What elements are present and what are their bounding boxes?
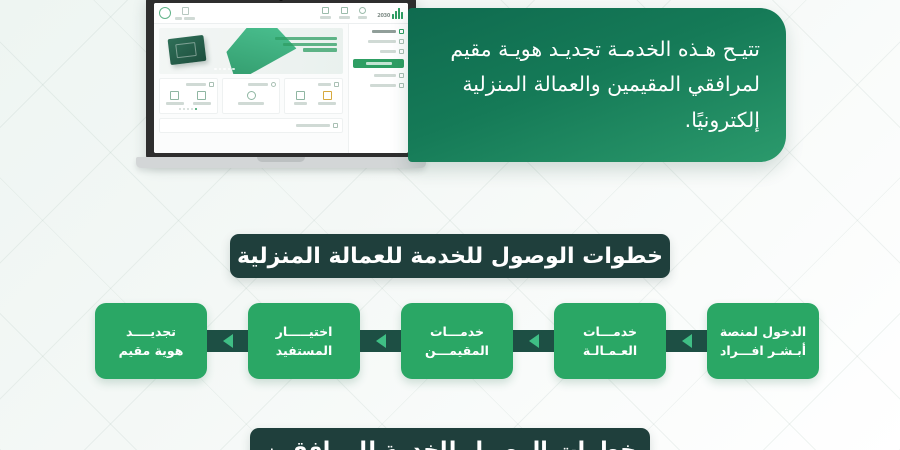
portal-lang-en-label[interactable] bbox=[184, 17, 195, 20]
portal-sidebar bbox=[348, 24, 408, 153]
card-item-label bbox=[193, 102, 211, 105]
passport-service-icon bbox=[296, 91, 305, 100]
service-card-header bbox=[226, 82, 277, 87]
hero-headline bbox=[275, 37, 337, 40]
infographic-canvas: 2030 bbox=[0, 0, 900, 450]
step-arrow-icon bbox=[360, 330, 401, 352]
sidebar-item-new-services[interactable] bbox=[353, 73, 404, 78]
step-box-labor-services[interactable]: خدمـــاتالعـمـالـة bbox=[554, 303, 666, 379]
portal-header-left bbox=[159, 7, 195, 20]
sidebar-item-update-data[interactable] bbox=[353, 83, 404, 88]
step-box-renew-resident-id[interactable]: تجديــــدهوية مقيم bbox=[95, 303, 207, 379]
step-arrow-icon bbox=[666, 330, 707, 352]
portal-nav: 2030 bbox=[320, 7, 403, 19]
hero-cta-label bbox=[303, 48, 337, 51]
card-item-label bbox=[294, 102, 307, 105]
vision-2030-text: 2030 bbox=[377, 13, 390, 19]
hero-carousel-dots[interactable] bbox=[214, 68, 235, 71]
step-arrow-icon bbox=[513, 330, 554, 352]
steps-flow: تجديــــدهوية مقيم اختيـــــارالمستفيد خ… bbox=[95, 303, 817, 379]
service-card-title bbox=[318, 83, 331, 86]
residents-service-icon bbox=[247, 91, 256, 100]
portal-body bbox=[154, 24, 408, 153]
card-item[interactable] bbox=[288, 91, 312, 105]
laptop-screen: 2030 bbox=[154, 3, 408, 153]
service-card-title bbox=[248, 83, 268, 86]
hero-banner[interactable] bbox=[159, 28, 343, 74]
portal-header: 2030 bbox=[154, 3, 408, 24]
footer-strip-label bbox=[296, 124, 330, 127]
sidebar-item-label bbox=[368, 40, 396, 43]
card-item[interactable] bbox=[163, 91, 187, 105]
section-title-companions: خطوات الوصول للخدمة للمرافقين bbox=[250, 428, 650, 450]
sidebar-item-verify[interactable] bbox=[353, 39, 404, 44]
vision-2030-logo: 2030 bbox=[377, 8, 403, 19]
card-title-icon bbox=[334, 82, 339, 87]
nav-item-home[interactable] bbox=[358, 7, 367, 19]
nav-label-account bbox=[339, 16, 350, 19]
laptop-camera-icon bbox=[279, 0, 283, 1]
hero-banner-text bbox=[267, 37, 337, 52]
sidebar-item-password[interactable] bbox=[353, 49, 404, 54]
nav-label-services bbox=[320, 16, 331, 19]
service-card-my-services[interactable] bbox=[284, 78, 343, 114]
section-title-domestic-workers: خطوات الوصول للخدمة للعمالة المنزلية bbox=[230, 234, 670, 278]
laptop-lid: 2030 bbox=[146, 0, 416, 162]
saudi-emblem-logo-icon bbox=[159, 7, 171, 19]
footer-strip-icon bbox=[333, 123, 338, 128]
account-icon bbox=[399, 29, 404, 34]
step-arrow-icon bbox=[207, 330, 248, 352]
bell-icon[interactable] bbox=[182, 7, 189, 15]
sidebar-item-label bbox=[374, 74, 396, 77]
step-box-select-beneficiary[interactable]: اختيـــــارالمستفيد bbox=[248, 303, 360, 379]
step-box-login-absher-individuals[interactable]: الدخول لمنصةأبـشـر افـــراد bbox=[707, 303, 819, 379]
sidebar-item-icon bbox=[399, 83, 404, 88]
service-card-offered[interactable] bbox=[159, 78, 218, 114]
nav-item-account[interactable] bbox=[339, 7, 350, 19]
sidebar-login-label bbox=[366, 62, 392, 65]
service-card-header bbox=[163, 82, 214, 87]
sidebar-login-button[interactable] bbox=[353, 59, 404, 68]
card-item[interactable] bbox=[226, 91, 277, 105]
sidebar-heading bbox=[372, 30, 396, 33]
service-card-items bbox=[288, 91, 339, 105]
portal-main-column bbox=[154, 24, 348, 153]
laptop-mockup: 2030 bbox=[136, 0, 426, 190]
user-circle-icon bbox=[359, 7, 366, 14]
card-item[interactable] bbox=[190, 91, 214, 105]
card-item-label bbox=[166, 102, 184, 105]
home-icon bbox=[341, 7, 348, 14]
service-card-header bbox=[288, 82, 339, 87]
grid-icon bbox=[322, 7, 329, 14]
vehicle-icon bbox=[170, 91, 179, 100]
sidebar-item-label bbox=[370, 84, 396, 87]
service-cards-row bbox=[159, 78, 343, 114]
nav-item-services[interactable] bbox=[320, 7, 331, 19]
card-item-label bbox=[238, 102, 264, 105]
sidebar-heading-row bbox=[353, 29, 404, 34]
card-item[interactable] bbox=[315, 91, 339, 105]
card-carousel-dots[interactable] bbox=[163, 108, 214, 110]
laptop-base bbox=[136, 157, 426, 168]
portal-lang-label[interactable] bbox=[175, 17, 182, 20]
hero-subline bbox=[283, 43, 337, 46]
sidebar-item-icon bbox=[399, 49, 404, 54]
step-box-resident-services[interactable]: خدمـــاتالمقيمـــن bbox=[401, 303, 513, 379]
visa-icon bbox=[197, 91, 206, 100]
card-title-icon bbox=[209, 82, 214, 87]
service-card-items bbox=[226, 91, 277, 105]
service-card-title bbox=[186, 83, 206, 86]
service-card-most-used[interactable] bbox=[222, 78, 281, 114]
service-description-text: تتيـح هـذه الخدمـة تجديـد هويـة مقيم لمر… bbox=[430, 32, 760, 138]
vision-2030-bars-icon bbox=[392, 8, 403, 19]
sidebar-item-icon bbox=[399, 39, 404, 44]
portal-footer-strip[interactable] bbox=[159, 118, 343, 133]
card-item-label bbox=[318, 102, 336, 105]
service-description-panel: تتيـح هـذه الخدمـة تجديـد هويـة مقيم لمر… bbox=[408, 8, 786, 162]
passport-illustration bbox=[168, 35, 207, 65]
card-title-icon bbox=[271, 82, 276, 87]
civil-affairs-icon bbox=[323, 91, 332, 100]
nav-label-home bbox=[358, 16, 367, 19]
sidebar-item-icon bbox=[399, 73, 404, 78]
sidebar-item-label bbox=[380, 50, 396, 53]
service-card-items bbox=[163, 91, 214, 105]
